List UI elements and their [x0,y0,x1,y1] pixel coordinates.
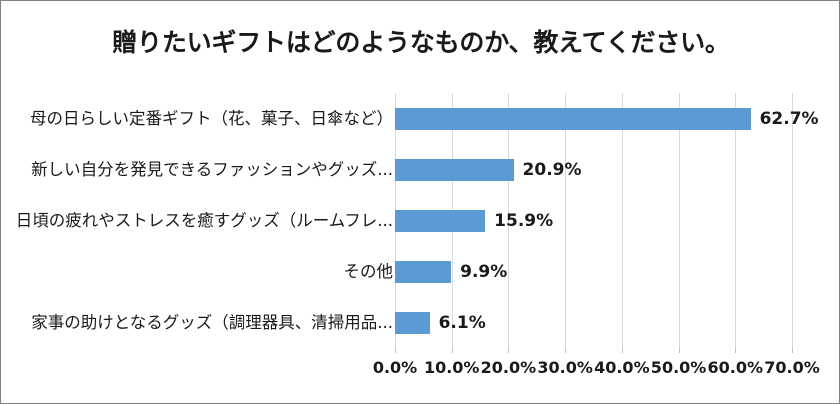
plot-area: 62.7%20.9%15.9%9.9%6.1% [395,93,792,348]
category-label: 家事の助けとなるグッズ（調理器具、清掃用品... [9,312,393,334]
chart-title: 贈りたいギフトはどのようなものか、教えてください。 [1,23,840,59]
bar-value-label: 9.9% [460,261,507,283]
x-tick-label: 50.0% [651,358,707,377]
x-tick-label: 20.0% [481,358,537,377]
x-tick-label: 60.0% [708,358,764,377]
x-tick-mark [622,348,623,353]
x-tick-mark [452,348,453,353]
bar-value-label: 20.9% [523,159,582,181]
bar[interactable] [395,210,485,232]
x-tick-mark [679,348,680,353]
bar-value-label: 62.7% [760,108,819,130]
gridline [679,93,680,348]
category-label: その他 [9,261,393,283]
x-tick-mark [735,348,736,353]
x-tick-label: 0.0% [373,358,417,377]
x-tick-label: 70.0% [764,358,820,377]
category-label: 母の日らしい定番ギフト（花、菓子、日傘など） [9,108,393,130]
bar[interactable] [395,261,451,283]
chart-container: 贈りたいギフトはどのようなものか、教えてください。 母の日らしい定番ギフト（花、… [0,0,840,404]
x-tick-mark [565,348,566,353]
category-label: 日頃の疲れやストレスを癒すグッズ（ルームフレ... [9,210,393,232]
category-label: 新しい自分を発見できるファッションやグッズ... [9,159,393,181]
bar[interactable] [395,312,430,334]
bar-value-label: 15.9% [494,210,553,232]
x-tick-label: 10.0% [424,358,480,377]
x-tick-mark [508,348,509,353]
gridline [622,93,623,348]
bar[interactable] [395,108,751,130]
bar-value-label: 6.1% [439,312,486,334]
x-tick-label: 30.0% [537,358,593,377]
bar[interactable] [395,159,514,181]
gridline [735,93,736,348]
x-tick-mark [792,348,793,353]
category-axis-labels: 母の日らしい定番ギフト（花、菓子、日傘など）新しい自分を発見できるファッションや… [9,93,393,348]
x-tick-mark [395,348,396,353]
gridline [565,93,566,348]
x-tick-label: 40.0% [594,358,650,377]
x-axis: 0.0%10.0%20.0%30.0%40.0%50.0%60.0%70.0% [1,348,840,388]
gridline [792,93,793,348]
